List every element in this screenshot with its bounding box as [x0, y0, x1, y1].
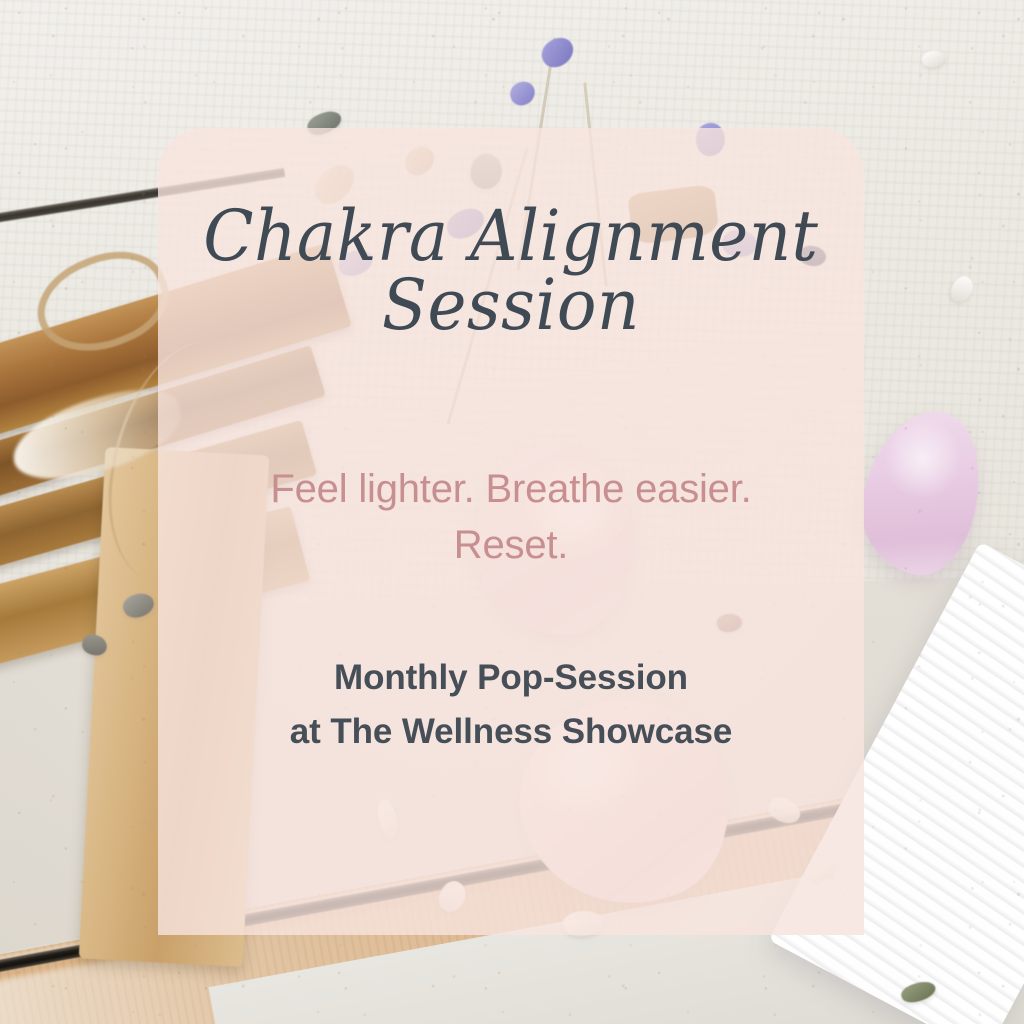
tagline-line-1: Feel lighter. Breathe easier.	[270, 467, 751, 511]
poster-text-block: Chakra Alignment Session Feel lighter. B…	[158, 128, 864, 935]
footer-line-1: Monthly Pop-Session	[334, 658, 688, 697]
tagline-line-2: Reset.	[454, 523, 568, 567]
page-title: Chakra Alignment Session	[192, 202, 829, 339]
poster-canvas: Chakra Alignment Session Feel lighter. B…	[0, 0, 1024, 1024]
headline-line-2: Session	[382, 264, 640, 346]
footer-line-2: at The Wellness Showcase	[290, 712, 732, 751]
event-details: Monthly Pop-Session at The Wellness Show…	[186, 651, 836, 760]
tagline: Feel lighter. Breathe easier. Reset.	[186, 461, 836, 573]
